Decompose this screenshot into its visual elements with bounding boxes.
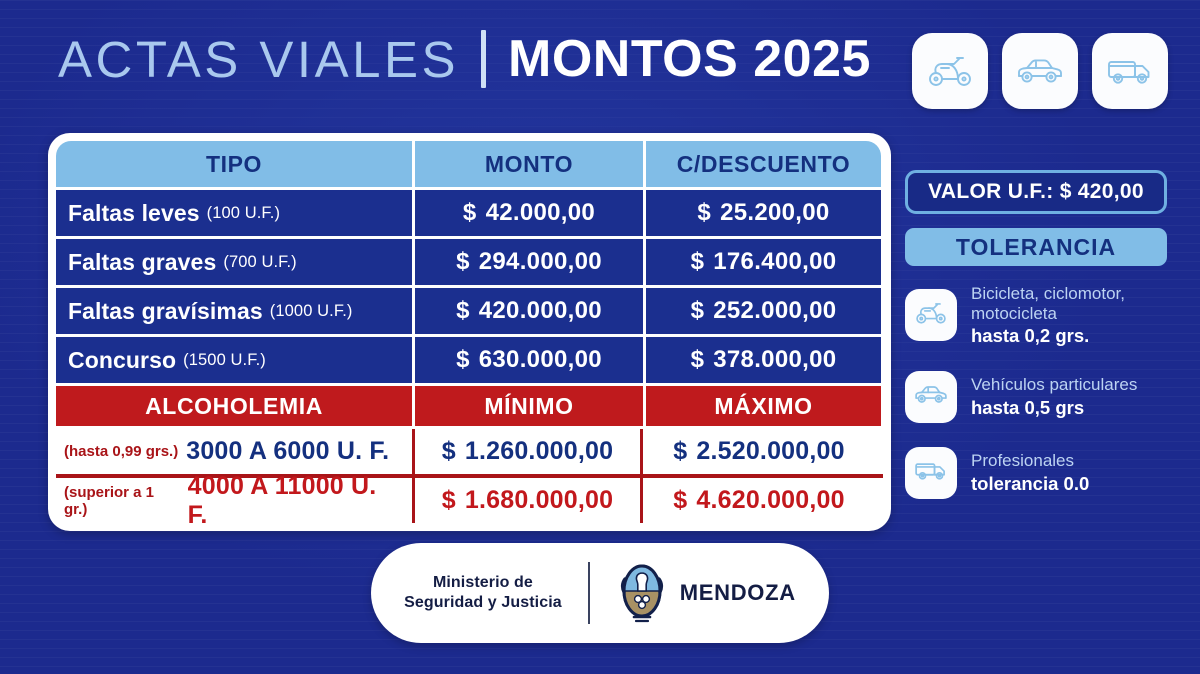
column-header-tipo: TIPO (56, 141, 412, 187)
row-monto: 420.000,00 (479, 297, 602, 324)
row-monto: 294.000,00 (479, 248, 602, 275)
tolerance-text: Vehículos particulares hasta 0,5 grs (971, 375, 1137, 418)
tolerance-list: Bicicleta, ciclomotor, motocicleta hasta… (905, 284, 1167, 499)
row-label-cell: Faltas leves (100 U.F.) (56, 190, 412, 236)
table-row: Concurso (1500 U.F.) $630.000,00 $378.00… (56, 337, 883, 383)
tolerance-value: hasta 0,2 grs. (971, 325, 1167, 347)
column-header-descuento: C/DESCUENTO (646, 141, 881, 187)
tolerance-text: Profesionales tolerancia 0.0 (971, 451, 1089, 494)
truck-icon (914, 459, 948, 487)
alcoholemia-header-row: ALCOHOLEMIA MÍNIMO MÁXIMO (56, 386, 883, 426)
tolerancia-title: TOLERANCIA (905, 228, 1167, 266)
currency-symbol: $ (691, 346, 705, 373)
car-badge (1002, 33, 1078, 109)
row-uf: (1000 U.F.) (270, 302, 353, 321)
currency-symbol: $ (691, 248, 705, 275)
title-montos-2025: MONTOS 2025 (508, 33, 871, 85)
alcoholemia-maximo-cell: $4.620.000,00 (640, 478, 875, 523)
scooter-badge (912, 33, 988, 109)
row-monto: 42.000,00 (486, 199, 595, 226)
page-title: ACTAS VIALES MONTOS 2025 (58, 30, 871, 88)
row-monto-cell: $420.000,00 (415, 288, 643, 334)
alcoholemia-range-cell: (hasta 0,99 grs.) 3000 A 6000 U. F. (56, 429, 412, 474)
argentina-coat-of-arms-icon (616, 555, 668, 632)
alcoholemia-row: (hasta 0,99 grs.) 3000 A 6000 U. F. $1.2… (56, 429, 883, 474)
row-descuento-cell: $25.200,00 (646, 190, 881, 236)
footer-bar: Ministerio de Seguridad y Justicia (371, 543, 829, 643)
currency-symbol: $ (442, 486, 456, 514)
tolerance-text: Bicicleta, ciclomotor, motocicleta hasta… (971, 284, 1167, 347)
infographic-page: ACTAS VIALES MONTOS 2025 (0, 0, 1200, 674)
car-icon (914, 383, 948, 411)
footer-divider (588, 562, 590, 624)
row-uf: (1500 U.F.) (183, 351, 266, 370)
car-badge (905, 371, 957, 423)
fines-table-card: TIPO MONTO C/DESCUENTO Faltas leves (100… (48, 133, 891, 531)
currency-symbol: $ (691, 297, 705, 324)
row-label: Faltas gravísimas (68, 298, 263, 325)
alcoholemia-maximo: 2.520.000,00 (696, 437, 844, 465)
truck-badge (1092, 33, 1168, 109)
row-descuento-cell: $176.400,00 (646, 239, 881, 285)
scooter-badge (905, 289, 957, 341)
truck-badge (905, 447, 957, 499)
alcoholemia-range-label: (hasta 0,99 grs.) (64, 443, 178, 460)
row-label: Faltas leves (68, 200, 200, 227)
row-label-cell: Concurso (1500 U.F.) (56, 337, 412, 383)
row-descuento: 252.000,00 (713, 297, 836, 324)
alcoholemia-minimo-cell: $1.680.000,00 (412, 478, 640, 523)
ministry-line-2: Seguridad y Justicia (404, 593, 562, 613)
currency-symbol: $ (673, 437, 687, 465)
alcoholemia-minimo-cell: $1.260.000,00 (412, 429, 640, 474)
title-divider (481, 30, 486, 88)
row-label: Faltas graves (68, 249, 216, 276)
row-uf: (700 U.F.) (223, 253, 296, 272)
mendoza-label: MENDOZA (680, 580, 796, 606)
alcoholemia-maximo: 4.620.000,00 (696, 486, 844, 514)
vehicle-icon-group (912, 33, 1168, 109)
valor-uf-box: VALOR U.F.: $ 420,00 (905, 170, 1167, 214)
page-header: ACTAS VIALES MONTOS 2025 (0, 0, 1200, 128)
list-item: Vehículos particulares hasta 0,5 grs (905, 371, 1167, 423)
alcoholemia-minimo: 1.260.000,00 (465, 437, 613, 465)
column-header-alcoholemia: ALCOHOLEMIA (56, 386, 412, 426)
row-monto-cell: $630.000,00 (415, 337, 643, 383)
alcoholemia-row: (superior a 1 gr.) 4000 A 11000 U. F. $1… (56, 478, 883, 523)
table-row: Faltas leves (100 U.F.) $42.000,00 $25.2… (56, 190, 883, 236)
row-descuento-cell: $252.000,00 (646, 288, 881, 334)
row-descuento: 25.200,00 (720, 199, 829, 226)
car-icon (1016, 55, 1064, 87)
row-label-cell: Faltas graves (700 U.F.) (56, 239, 412, 285)
table-row: Faltas graves (700 U.F.) $294.000,00 $17… (56, 239, 883, 285)
row-monto-cell: $42.000,00 (415, 190, 643, 236)
row-descuento: 378.000,00 (713, 346, 836, 373)
row-uf: (100 U.F.) (207, 204, 280, 223)
ministry-name: Ministerio de Seguridad y Justicia (404, 573, 562, 614)
row-label: Concurso (68, 347, 176, 374)
tolerance-category: Profesionales (971, 451, 1089, 471)
row-descuento: 176.400,00 (713, 248, 836, 275)
alcoholemia-range-cell: (superior a 1 gr.) 4000 A 11000 U. F. (56, 478, 412, 523)
scooter-icon (915, 301, 947, 330)
scooter-icon (927, 54, 973, 88)
column-header-minimo: MÍNIMO (415, 386, 643, 426)
alcoholemia-uf: 4000 A 11000 U. F. (188, 472, 400, 530)
truck-icon (1106, 55, 1154, 87)
table-header-row: TIPO MONTO C/DESCUENTO (56, 141, 883, 187)
column-header-maximo: MÁXIMO (646, 386, 881, 426)
currency-symbol: $ (697, 199, 711, 226)
alcoholemia-minimo: 1.680.000,00 (465, 486, 613, 514)
currency-symbol: $ (463, 199, 477, 226)
row-label-cell: Faltas gravísimas (1000 U.F.) (56, 288, 412, 334)
alcoholemia-range-label: (superior a 1 gr.) (64, 484, 180, 518)
currency-symbol: $ (673, 486, 687, 514)
ministry-line-1: Ministerio de (404, 573, 562, 593)
currency-symbol: $ (442, 437, 456, 465)
tolerance-category: Vehículos particulares (971, 375, 1137, 395)
mendoza-brand: MENDOZA (616, 555, 796, 632)
column-header-monto: MONTO (415, 141, 643, 187)
title-actas-viales: ACTAS VIALES (58, 34, 459, 85)
currency-symbol: $ (456, 297, 470, 324)
tolerance-value: tolerancia 0.0 (971, 473, 1089, 495)
tolerance-category: Bicicleta, ciclomotor, motocicleta (971, 284, 1167, 324)
row-monto-cell: $294.000,00 (415, 239, 643, 285)
tolerance-value: hasta 0,5 grs (971, 397, 1137, 419)
alcoholemia-maximo-cell: $2.520.000,00 (640, 429, 875, 474)
row-descuento-cell: $378.000,00 (646, 337, 881, 383)
row-monto: 630.000,00 (479, 346, 602, 373)
currency-symbol: $ (456, 248, 470, 275)
list-item: Bicicleta, ciclomotor, motocicleta hasta… (905, 284, 1167, 347)
alcoholemia-uf: 3000 A 6000 U. F. (186, 437, 389, 466)
currency-symbol: $ (456, 346, 470, 373)
side-panel: VALOR U.F.: $ 420,00 TOLERANCIA (905, 170, 1167, 523)
list-item: Profesionales tolerancia 0.0 (905, 447, 1167, 499)
table-row: Faltas gravísimas (1000 U.F.) $420.000,0… (56, 288, 883, 334)
